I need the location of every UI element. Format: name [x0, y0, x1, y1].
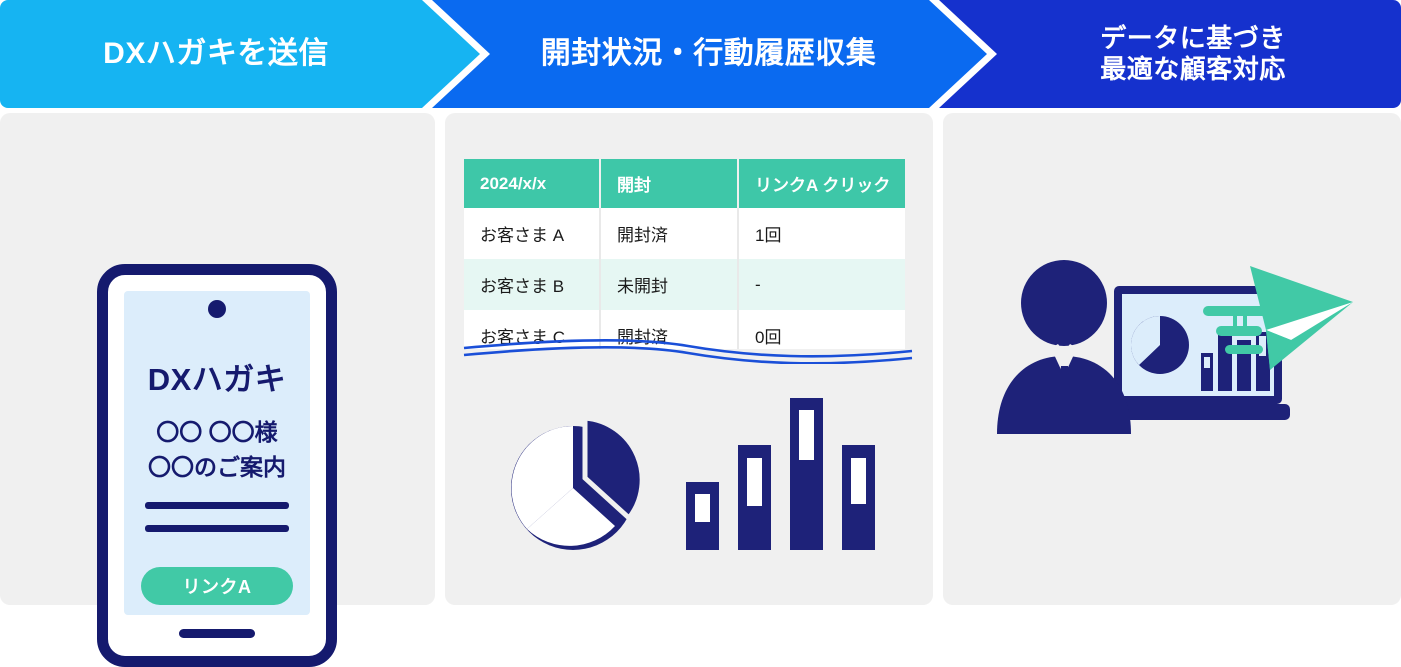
phone-mockup: DXハガキ 〇〇 〇〇様 〇〇のご案内 リンクA	[97, 264, 337, 667]
table-header-row: 2024/x/x 開封 リンクA クリック	[464, 159, 905, 208]
bar-highlight	[695, 494, 710, 522]
laptop-base	[1118, 404, 1290, 420]
process-banner: DXハガキを送信 開封状況・行動履歴収集 データに基づき 最適な顧客対応	[0, 0, 1401, 108]
text-placeholder-line	[145, 502, 289, 509]
step-send: DXハガキを送信	[0, 0, 480, 108]
bar-highlight	[747, 458, 762, 506]
bar-chart-icon	[686, 398, 858, 550]
bar-2	[738, 445, 771, 550]
step-send-label: DXハガキを送信	[103, 36, 377, 71]
wave-divider	[462, 336, 914, 364]
step-respond: データに基づき 最適な顧客対応	[939, 0, 1401, 108]
step-respond-label: データに基づき 最適な顧客対応	[1054, 23, 1286, 84]
open-status-table: 2024/x/x 開封 リンクA クリック お客さま A 開封済 1回 お客さま…	[464, 159, 905, 349]
analytics-illustration	[985, 248, 1380, 458]
bar-highlight	[799, 410, 814, 460]
table-header-clicks: リンクA クリック	[738, 159, 905, 208]
text-placeholder-line	[145, 525, 289, 532]
cell-customer: お客さま B	[464, 259, 600, 310]
infographic-root: DXハガキを送信 開封状況・行動履歴収集 データに基づき 最適な顧客対応 DXハ…	[0, 0, 1401, 605]
pie-chart-icon	[503, 410, 651, 558]
table-row: お客さま A 開封済 1回	[464, 208, 905, 259]
cell-open: 開封済	[600, 208, 738, 259]
screen-pie-icon	[1131, 316, 1189, 374]
postcard-recipient: 〇〇 〇〇様	[124, 413, 310, 447]
home-indicator	[179, 629, 255, 638]
table-header-date: 2024/x/x	[464, 159, 600, 208]
cell-clicks: 1回	[738, 208, 905, 259]
bar-highlight	[851, 458, 866, 504]
panel-send: DXハガキ 〇〇 〇〇様 〇〇のご案内 リンクA	[0, 113, 435, 605]
phone-screen: DXハガキ 〇〇 〇〇様 〇〇のご案内 リンクA	[124, 291, 310, 615]
cell-open: 未開封	[600, 259, 738, 310]
postcard-subject: 〇〇のご案内	[124, 448, 310, 482]
bar-1	[686, 482, 719, 550]
link-a-button[interactable]: リンクA	[141, 567, 293, 605]
table-row: お客さま B 未開封 -	[464, 259, 905, 310]
bar-3	[790, 398, 823, 550]
cell-clicks: -	[738, 259, 905, 310]
person-icon	[997, 260, 1131, 434]
table-header-open: 開封	[600, 159, 738, 208]
cell-customer: お客さま A	[464, 208, 600, 259]
step-collect: 開封状況・行動履歴収集	[432, 0, 987, 108]
step-collect-label: 開封状況・行動履歴収集	[501, 36, 919, 71]
postcard-title: DXハガキ	[124, 354, 310, 399]
bar-4	[842, 445, 875, 550]
camera-dot-icon	[208, 300, 226, 318]
